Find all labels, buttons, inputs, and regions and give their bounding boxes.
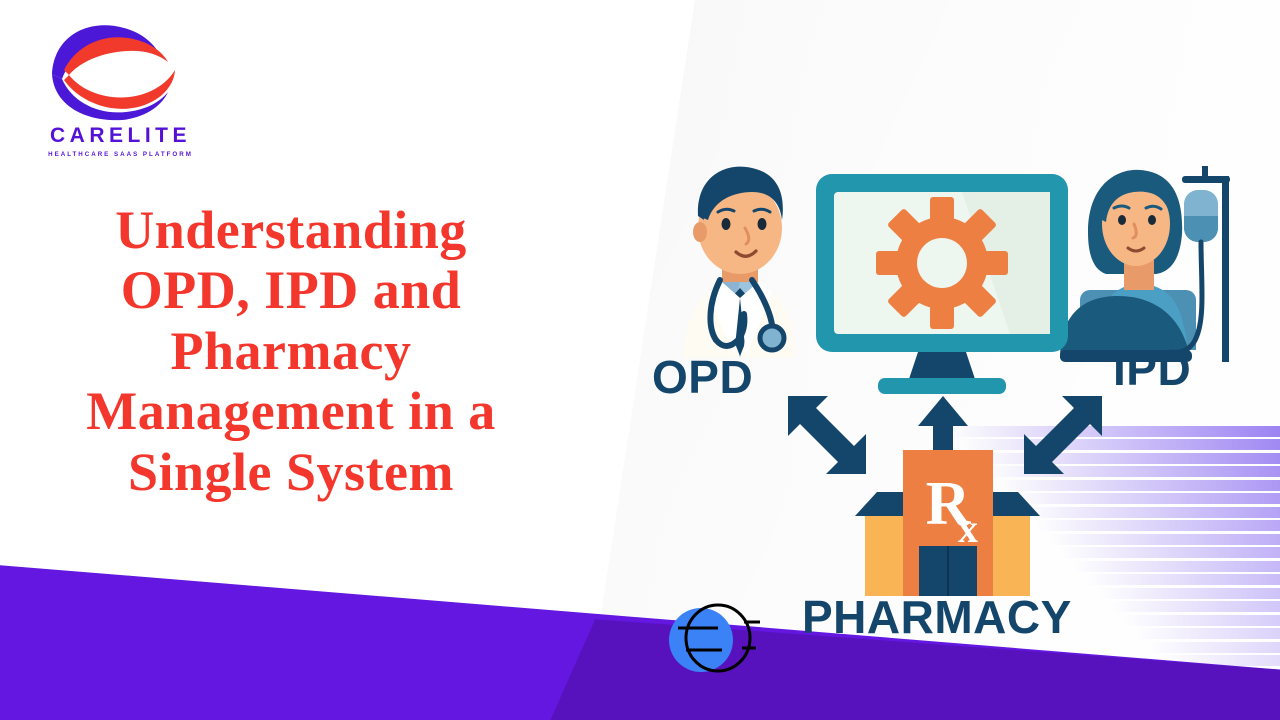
brand-logo[interactable]: CARELITE HEALTHCARE SAAS PLATFORM <box>28 22 213 158</box>
globe-target-icon <box>656 600 766 680</box>
pharmacy-label: PHARMACY <box>802 590 1072 644</box>
doctor-icon <box>648 158 833 358</box>
brand-tagline: HEALTHCARE SAAS PLATFORM <box>28 151 213 158</box>
monitor-gear-icon <box>812 170 1072 400</box>
illustration-group: OPD <box>630 150 1250 670</box>
ipd-label: IPD <box>1113 342 1191 396</box>
poster-canvas: CARELITE HEALTHCARE SAAS PLATFORM Unders… <box>0 0 1280 720</box>
pharmacy-building-icon: R x <box>845 450 1050 600</box>
svg-text:x: x <box>958 506 978 551</box>
page-title: Understanding OPD, IPD and Pharmacy Mana… <box>46 200 536 502</box>
brand-name: CARELITE <box>28 124 213 148</box>
patient-bed-iv-icon <box>1060 162 1245 362</box>
opd-label: OPD <box>652 350 753 404</box>
carelite-c-logo-icon <box>36 22 186 120</box>
